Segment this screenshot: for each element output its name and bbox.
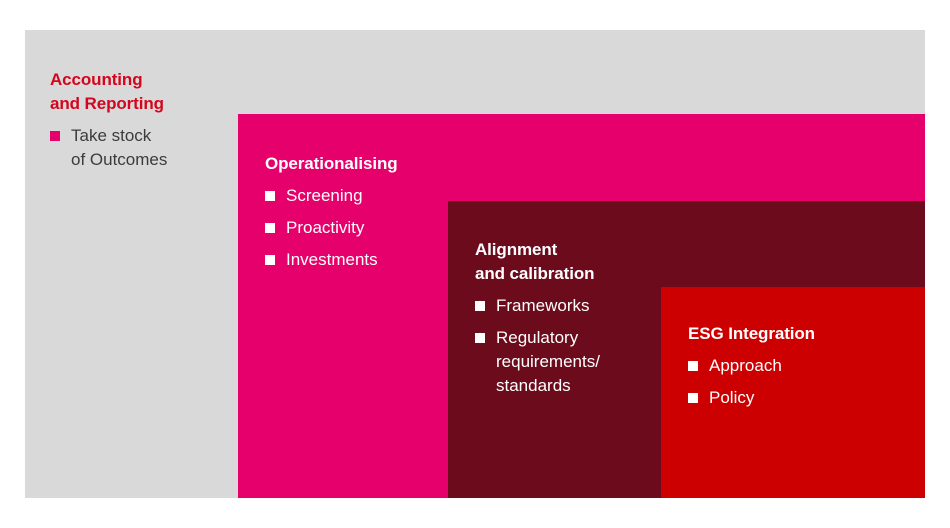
list-item: Investments (265, 248, 398, 272)
square-bullet-icon (265, 223, 275, 233)
bullet-list-operationalising: Screening Proactivity Investments (265, 184, 398, 272)
list-item: Policy (688, 386, 815, 410)
bullet-label: Regulatory requirements/ standards (496, 326, 600, 398)
stage-heading-alignment-and-calibration: Alignment and calibration (475, 238, 600, 286)
bullet-list-accounting-and-reporting: Take stock of Outcomes (50, 124, 167, 172)
bullet-label: Take stock of Outcomes (71, 124, 167, 172)
bullet-label: Frameworks (496, 294, 590, 318)
bullet-label: Proactivity (286, 216, 364, 240)
bullet-list-alignment-and-calibration: Frameworks Regulatory requirements/ stan… (475, 294, 600, 398)
stage-content-accounting-and-reporting: Accounting and Reporting Take stock of O… (25, 30, 167, 172)
square-bullet-icon (688, 393, 698, 403)
bullet-label: Policy (709, 386, 754, 410)
list-item: Approach (688, 354, 815, 378)
list-item: Proactivity (265, 216, 398, 240)
list-item: Regulatory requirements/ standards (475, 326, 600, 398)
bullet-label: Screening (286, 184, 363, 208)
stage-content-alignment-and-calibration: Alignment and calibration Frameworks Reg… (448, 201, 600, 398)
stage-panel-esg-integration: ESG Integration Approach Policy (661, 287, 925, 498)
bullet-label: Investments (286, 248, 378, 272)
bullet-list-esg-integration: Approach Policy (688, 354, 815, 410)
stage-content-esg-integration: ESG Integration Approach Policy (661, 287, 815, 410)
list-item: Frameworks (475, 294, 600, 318)
stage-heading-esg-integration: ESG Integration (688, 322, 815, 346)
stage-content-operationalising: Operationalising Screening Proactivity I… (238, 114, 398, 272)
list-item: Screening (265, 184, 398, 208)
list-item: Take stock of Outcomes (50, 124, 167, 172)
stage-heading-accounting-and-reporting: Accounting and Reporting (50, 68, 167, 116)
square-bullet-icon (688, 361, 698, 371)
square-bullet-icon (265, 191, 275, 201)
square-bullet-icon (265, 255, 275, 265)
square-bullet-icon (475, 333, 485, 343)
bullet-label: Approach (709, 354, 782, 378)
stage-heading-operationalising: Operationalising (265, 152, 398, 176)
square-bullet-icon (475, 301, 485, 311)
diagram-canvas: Accounting and Reporting Take stock of O… (0, 0, 950, 528)
square-bullet-icon (50, 131, 60, 141)
